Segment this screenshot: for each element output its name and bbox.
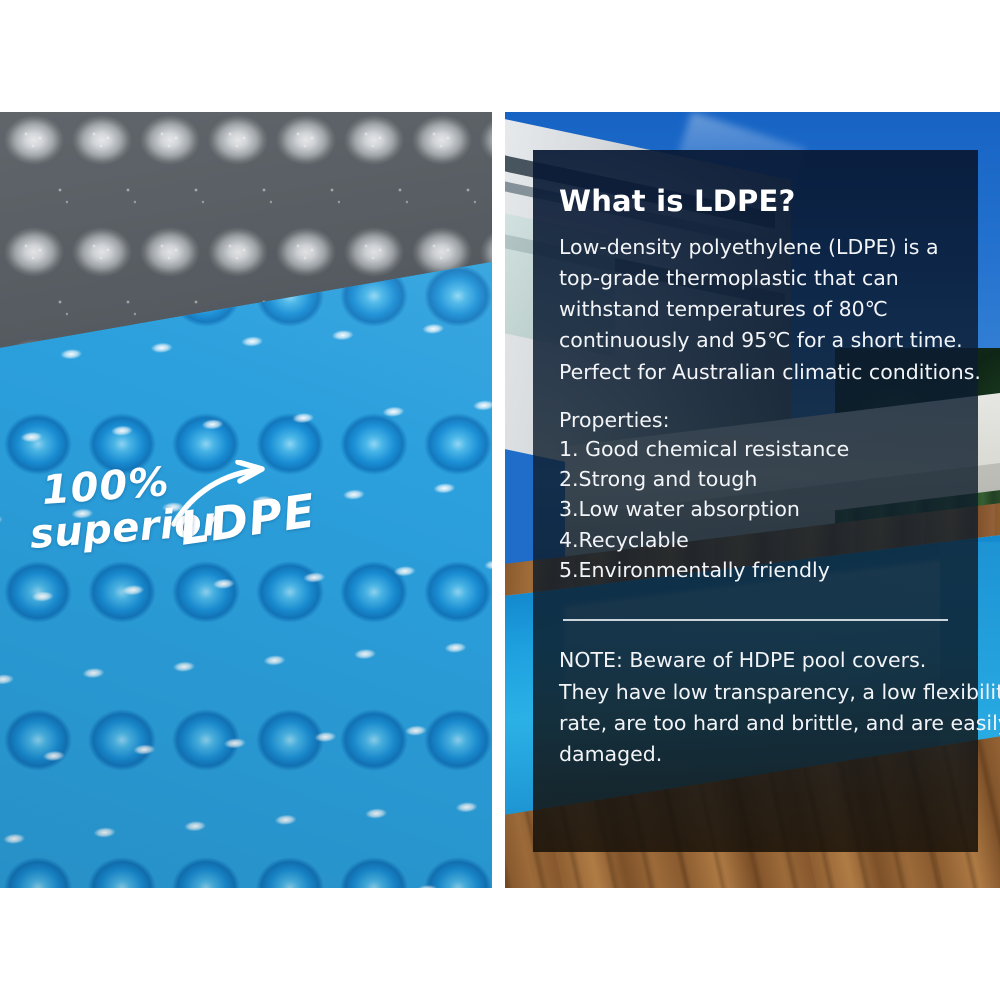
note-line: They have low transparency, a low flexib… (559, 677, 952, 708)
left-product-image-panel: 100% superior LDPE (0, 112, 492, 888)
property-item: 4.Recyclable (559, 525, 952, 555)
intro-line: top-grade thermoplastic that can (559, 263, 952, 294)
infographic-canvas: 100% superior LDPE What (0, 0, 1000, 1000)
property-item: 5.Environmentally friendly (559, 555, 952, 585)
intro-line: withstand temperatures of 80℃ (559, 294, 952, 325)
intro-line: continuously and 95℃ for a short time. (559, 325, 952, 356)
card-divider (563, 619, 948, 621)
property-item: 1. Good chemical resistance (559, 434, 952, 464)
properties-list: 1. Good chemical resistance 2.Strong and… (559, 434, 952, 586)
note-line: NOTE: Beware of HDPE pool covers. (559, 645, 952, 676)
note-line: damaged. (559, 739, 952, 770)
properties-label: Properties: (559, 408, 952, 432)
note-line: rate, are too hard and brittle, and are … (559, 708, 952, 739)
property-item: 3.Low water absorption (559, 494, 952, 524)
card-intro-paragraph: Low-density polyethylene (LDPE) is a top… (559, 232, 952, 388)
right-info-panel: What is LDPE? Low-density polyethylene (… (505, 112, 1000, 888)
intro-line: Perfect for Australian climatic conditio… (559, 357, 952, 388)
intro-line: Low-density polyethylene (LDPE) is a (559, 232, 952, 263)
card-note-paragraph: NOTE: Beware of HDPE pool covers. They h… (559, 645, 952, 770)
card-title: What is LDPE? (559, 184, 952, 218)
ldpe-info-card: What is LDPE? Low-density polyethylene (… (533, 150, 978, 852)
property-item: 2.Strong and tough (559, 464, 952, 494)
